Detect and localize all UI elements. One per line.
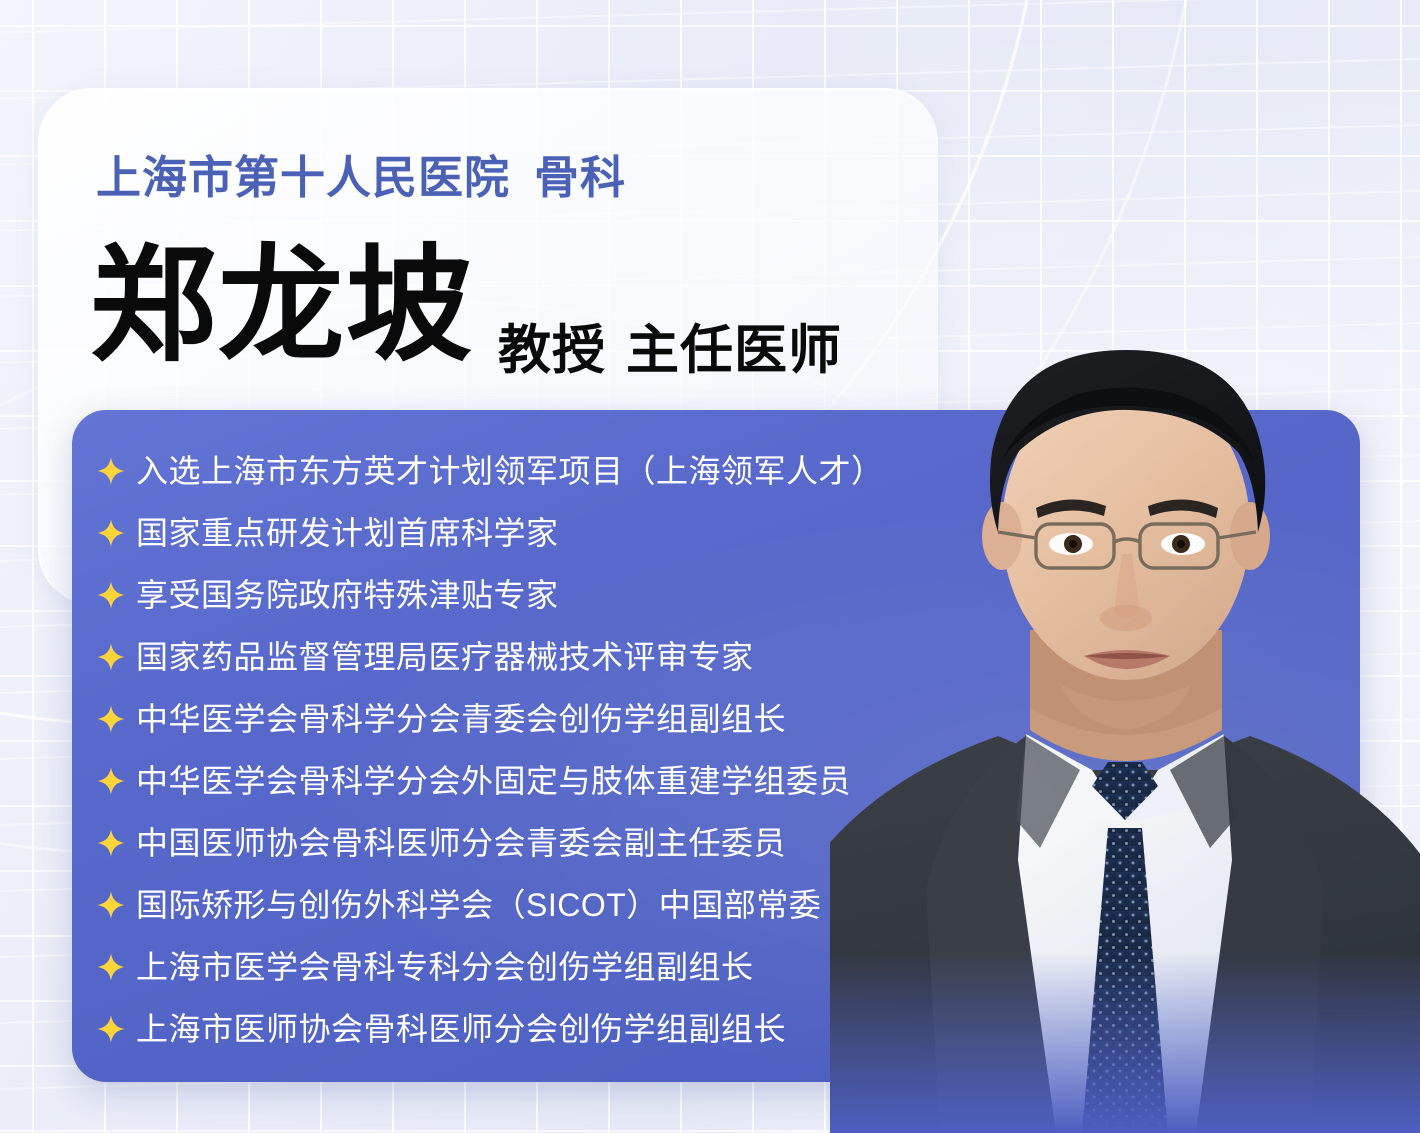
title-chief-physician: 主任医师	[626, 321, 842, 380]
credential-item: 中国医师协会骨科医师分会青委会副主任委员	[96, 812, 916, 874]
credential-item: 国家重点研发计划首席科学家	[96, 502, 916, 564]
credential-item: 入选上海市东方英才计划领军项目（上海领军人才）	[96, 440, 916, 502]
credential-item: 中华医学会骨科学分会青委会创伤学组副组长	[96, 688, 916, 750]
credential-text: 入选上海市东方英才计划领军项目（上海领军人才）	[136, 455, 884, 487]
credential-text: 上海市医师协会骨科医师分会创伤学组副组长	[136, 1013, 786, 1045]
credential-text: 上海市医学会骨科专科分会创伤学组副组长	[136, 951, 754, 983]
sparkle-star-icon	[96, 704, 126, 734]
sparkle-star-icon	[96, 828, 126, 858]
credential-item: 上海市医师协会骨科医师分会创伤学组副组长	[96, 998, 916, 1060]
credential-text: 国家药品监督管理局医疗器械技术评审专家	[136, 641, 754, 673]
credential-text: 国家重点研发计划首席科学家	[136, 517, 559, 549]
sparkle-star-icon	[96, 890, 126, 920]
sparkle-star-icon	[96, 518, 126, 548]
sparkle-star-icon	[96, 456, 126, 486]
credential-text: 中国医师协会骨科医师分会青委会副主任委员	[136, 827, 786, 859]
doctor-name: 郑龙坡	[90, 243, 474, 369]
credential-item: 国际矫形与创伤外科学会（SICOT）中国部常委	[96, 874, 916, 936]
sparkle-star-icon	[96, 952, 126, 982]
credential-text: 中华医学会骨科学分会外固定与肢体重建学组委员	[136, 765, 851, 797]
sparkle-star-icon	[96, 580, 126, 610]
doctor-portrait-photo	[830, 300, 1420, 1133]
credential-text: 享受国务院政府特殊津贴专家	[136, 579, 559, 611]
credential-item: 上海市医学会骨科专科分会创伤学组副组长	[96, 936, 916, 998]
department-name: 骨科	[534, 152, 626, 203]
credential-text: 中华医学会骨科学分会青委会创伤学组副组长	[136, 703, 786, 735]
doctor-titles: 教授主任医师	[498, 308, 842, 384]
hospital-name: 上海市第十人民医院	[96, 152, 510, 203]
title-professor: 教授	[498, 321, 606, 380]
credential-item: 享受国务院政府特殊津贴专家	[96, 564, 916, 626]
doctor-profile-card: 上海市第十人民医院骨科 郑龙坡 教授主任医师	[0, 0, 1420, 1133]
credentials-list: 入选上海市东方英才计划领军项目（上海领军人才）国家重点研发计划首席科学家享受国务…	[96, 440, 916, 1060]
sparkle-star-icon	[96, 766, 126, 796]
hospital-department-line: 上海市第十人民医院骨科	[96, 141, 626, 206]
sparkle-star-icon	[96, 1014, 126, 1044]
credential-item: 中华医学会骨科学分会外固定与肢体重建学组委员	[96, 750, 916, 812]
credential-text: 国际矫形与创伤外科学会（SICOT）中国部常委	[136, 889, 821, 921]
sparkle-star-icon	[96, 642, 126, 672]
credential-item: 国家药品监督管理局医疗器械技术评审专家	[96, 626, 916, 688]
